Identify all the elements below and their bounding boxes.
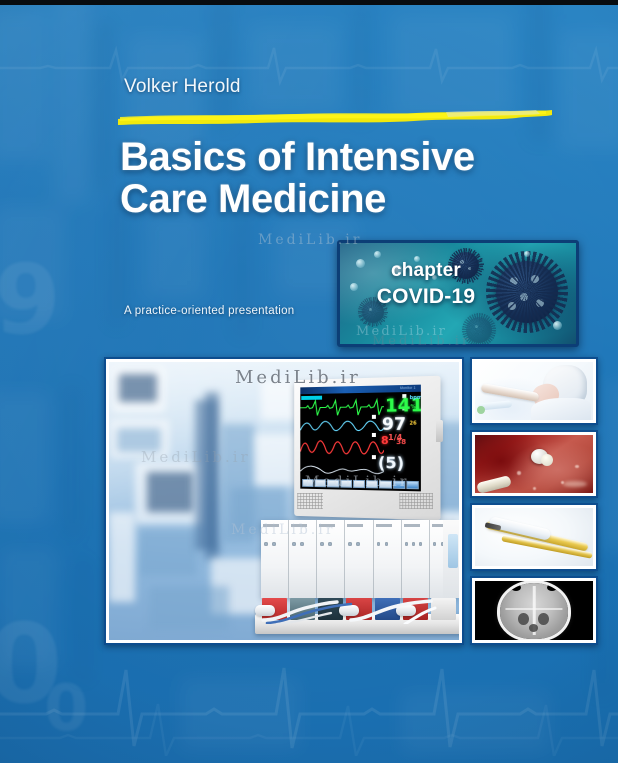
pump-module-rack — [261, 520, 457, 598]
catheter-introducer-image — [475, 508, 593, 566]
pump-controller-panel[interactable] — [443, 520, 459, 598]
brain-ct-image — [475, 581, 593, 640]
monitor-resp-rate: (5) — [378, 455, 404, 472]
watermark-covid-badge: MediLib.ir — [356, 324, 447, 339]
virus-particle-bottom — [466, 317, 492, 343]
monitor-softkey-2[interactable] — [315, 479, 327, 487]
monitor-softkey-4[interactable] — [340, 480, 352, 488]
title-line-1: Basics of Intensive — [120, 136, 590, 178]
monitor-softkey-3[interactable] — [327, 479, 339, 487]
covid-badge-line-2: COVID-19 — [340, 285, 512, 309]
monitor-softkey-7[interactable] — [379, 480, 391, 488]
airway-illustration — [475, 362, 593, 420]
pump-module[interactable] — [317, 520, 345, 598]
monitor-label-nibp: 26 — [409, 422, 416, 427]
virus-spore-7 — [553, 321, 562, 330]
title-line-2: Care Medicine — [120, 178, 590, 220]
page-title: Basics of Intensive Care Medicine — [120, 136, 590, 221]
infusion-pump-stack — [255, 514, 459, 634]
pump-module[interactable] — [345, 520, 373, 598]
pump-iv-tubing — [255, 590, 459, 624]
monitor-titlebar-label: Monitor 1 — [400, 385, 416, 389]
monitor-spo2: 97 — [382, 417, 406, 434]
monitor-speaker-grill-right — [399, 493, 433, 509]
top-dark-band — [0, 0, 618, 5]
icu-room-photo: Monitor 1 — [104, 357, 464, 645]
icu-room-photo-inner: Monitor 1 — [109, 362, 459, 640]
monitor-softkey-6[interactable] — [366, 480, 378, 488]
monitor-label-top: bpm — [409, 396, 420, 401]
panel-catheter-device — [470, 503, 598, 571]
covid-chapter-badge[interactable]: chapter COVID-19 MediLib.ir — [337, 240, 579, 347]
book-subtitle: A practice-oriented presentation — [124, 305, 294, 317]
panel-brain-ct — [470, 576, 598, 645]
monitor-side-port — [436, 420, 443, 442]
endoscopic-bleeding-image — [475, 435, 593, 493]
monitor-softkey-5[interactable] — [353, 480, 365, 488]
panel-brain-ct-inner — [475, 581, 593, 640]
pump-module[interactable] — [289, 520, 317, 598]
virus-spore-8 — [524, 251, 530, 257]
covid-badge-text: chapter COVID-19 — [340, 260, 512, 309]
panel-endoscopic-inner — [475, 435, 593, 493]
covid-badge-line-1: chapter — [340, 260, 512, 282]
monitor-softkey-1[interactable] — [302, 479, 314, 487]
virus-spore-2 — [374, 251, 381, 258]
monitor-numerics: 141 97 8 1/4 38 (5) bpm % 26 — [372, 392, 421, 487]
monitor-softkey-row[interactable] — [302, 479, 419, 489]
pump-module[interactable] — [261, 520, 289, 598]
monitor-softkey-9[interactable] — [406, 481, 419, 489]
author-name: Volker Herold — [124, 76, 241, 98]
patient-monitor: Monitor 1 — [291, 378, 439, 518]
monitor-nibp-sub-2: 38 — [396, 439, 406, 446]
panel-endoscopic-view — [470, 430, 598, 498]
panel-airway-intubation — [470, 357, 598, 425]
book-cover: 9 0 0 Volker Herold Basics of Intensive … — [0, 0, 618, 763]
monitor-speaker-grill-left — [297, 493, 323, 509]
pump-module[interactable] — [402, 520, 430, 598]
photo-collage: Monitor 1 — [104, 357, 598, 645]
pump-module[interactable] — [374, 520, 402, 598]
monitor-screen: Monitor 1 — [300, 385, 421, 492]
monitor-softkey-8[interactable] — [393, 481, 405, 489]
panel-catheter-inner — [475, 508, 593, 566]
panel-airway-inner — [475, 362, 593, 420]
monitor-label-spo2: % — [411, 405, 416, 410]
highlighter-stroke — [116, 106, 554, 128]
